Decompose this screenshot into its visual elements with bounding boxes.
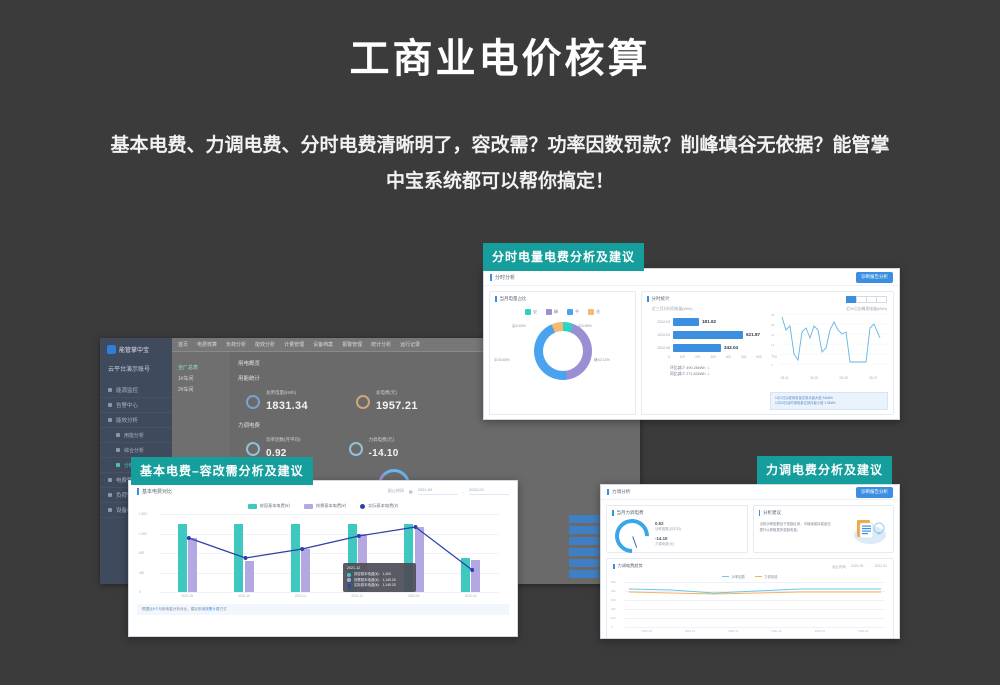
x-tick: 2022-01 — [408, 594, 420, 598]
bar-chart: 2022-03 181.62 2022-04 621.87 2022-05 — [642, 312, 784, 354]
gauge-block: 0.92 功率因数(月平均) -14.10 力调电费(元) — [607, 516, 747, 553]
card-gauge: 当月力调电费 0.92 功率因数(月平均) -14.10 力调电费(元) — [606, 505, 748, 553]
axis-tick: 05-20 — [810, 376, 818, 380]
legend-item-feng[interactable]: 峰 — [546, 309, 558, 315]
bar-label: 2022-05 — [650, 346, 670, 350]
svg-text:0: 0 — [771, 363, 773, 367]
kpi-total-fee: 总电费(元) 1957.21 — [356, 390, 418, 414]
down-arrow-icon: ↓ — [707, 371, 710, 377]
sidebar-label: 综合分析 — [124, 447, 144, 454]
picker-separator: - — [868, 564, 869, 569]
card-title: 分析建议 — [763, 510, 781, 516]
x-tick: 2022-02 — [858, 629, 868, 633]
y-tick: 1,600 — [139, 512, 147, 516]
insight-line-2: 1月20日谷时用电量达到月最小值 1.5kWh — [775, 401, 883, 406]
trend-date-picker[interactable]: 起止时间 2021-09 - 2022-02 — [832, 564, 887, 569]
card-title-wrap: 当月电量占比 — [490, 292, 635, 302]
sidebar-label: 用能分析 — [124, 432, 144, 439]
legend-item-xuqiu[interactable]: 按需基本电费(¥) — [304, 503, 346, 509]
bar-chart-subtitle: 近三月分时用电量(kWh) — [642, 302, 784, 312]
line-chart-svg: 352821 1470 — [770, 308, 888, 374]
tag-shiduan-analysis: 分时电量电费分析及建议 — [483, 243, 644, 271]
line-chart: 352821 1470 — [770, 308, 888, 374]
picker-label: 起止时间 — [832, 564, 846, 569]
sidebar-label: 告警中心 — [116, 401, 138, 409]
svg-text:7: 7 — [771, 353, 773, 357]
note-text: 同比减少 271.62kWh — [670, 372, 705, 377]
donut-chart: 尖5.69% 峰42.13% 平45.65% 谷6.53% — [490, 318, 635, 392]
tree-node-1[interactable]: 1#车间 — [178, 375, 230, 382]
topbar-item-7[interactable]: 统计分析 — [371, 341, 391, 348]
x-tick: 2021-12 — [771, 629, 781, 633]
title-accent-bar-icon — [495, 296, 497, 302]
legend-swatch-icon — [567, 309, 573, 315]
tooltip-dot-icon — [347, 578, 351, 582]
donut-hole — [543, 331, 583, 371]
axis-tick: 600 — [756, 355, 761, 359]
legend-line-icon — [755, 576, 762, 578]
picker-to[interactable]: 2022-02 — [469, 487, 509, 495]
legend-swatch-icon — [304, 504, 313, 509]
power-factor-label: 功率因数(月平均) — [655, 526, 681, 531]
y-tick: 1,200 — [139, 532, 147, 536]
axis-tick: 06-07 — [869, 376, 877, 380]
energy-icon — [246, 395, 260, 409]
y-tick: 400 — [139, 571, 144, 575]
bar-value: 181.62 — [702, 319, 716, 324]
advice-text: 当前功率因数处于奖励区间，可继续保持或适当提升以获取更多奖励电费。 — [754, 516, 838, 533]
legend-item-rongliang[interactable]: 按容基本电费(¥) — [248, 503, 290, 509]
bar-label: 2022-04 — [650, 333, 670, 337]
legend-item-litiao-fee[interactable]: 力调电费 — [755, 574, 778, 579]
legend-label: 实际基本电费(¥) — [368, 503, 398, 509]
legend-item-jian[interactable]: 尖 — [525, 309, 537, 315]
tooltip-label: 实际基本电费(¥): — [354, 583, 379, 589]
bar-fill — [673, 344, 721, 352]
legend-line-icon — [722, 576, 729, 578]
footer-pre: 根据近 — [142, 607, 153, 611]
card-title: 当月力调电费 — [617, 510, 644, 516]
bar-row-0: 2022-03 181.62 — [650, 315, 784, 328]
screenshot-litiao-panel: 力调分析 诊断报告分析 当月力调电费 0.92 功率因数(月平均) -14.1 — [600, 484, 900, 639]
y-tick: 0 — [611, 625, 613, 629]
bar-fill — [673, 331, 743, 339]
nav-dot-icon — [108, 493, 112, 497]
legend-swatch-icon — [248, 504, 257, 509]
x-tick: 2021-12 — [351, 594, 363, 598]
legend-label: 按容基本电费(¥) — [260, 503, 290, 509]
nav-dot-icon — [116, 433, 120, 437]
legend-label: 谷 — [596, 309, 600, 315]
legend-swatch-icon — [525, 309, 531, 315]
line-chart-insight-box: 1月1日尖峰用电量达到月最大值 34kWh 1月20日谷时用电量达到月最小值 1… — [770, 392, 888, 410]
gauge-needle-icon — [632, 536, 637, 548]
x-tick: 2022-02 — [465, 594, 477, 598]
legend-label: 功率因数 — [731, 574, 745, 579]
topbar-item-8[interactable]: 运行记录 — [400, 341, 420, 348]
kpi-value: 1831.34 — [266, 400, 308, 412]
legend-item-gu[interactable]: 谷 — [588, 309, 600, 315]
topbar-item-5[interactable]: 设备档案 — [313, 341, 333, 348]
account-name: 云平台演示账号 — [108, 364, 172, 373]
calendar-icon: ▦ — [409, 489, 413, 494]
page-title: 工商业电价核算 — [0, 26, 1000, 84]
svg-text:14: 14 — [771, 343, 775, 347]
shiduan-title: 分时分析 — [495, 274, 515, 281]
litiao-header: 力调分析 诊断报告分析 — [601, 485, 899, 500]
litiao-fee-label: 力调电费(元) — [655, 541, 681, 546]
title-accent-bar-icon — [607, 489, 609, 495]
tooltip-dot-icon — [347, 584, 351, 588]
fee-icon — [356, 395, 370, 409]
donut-label-ping: 平45.65% — [494, 358, 510, 363]
x-tick: 2021-10 — [685, 629, 695, 633]
x-tick: 2021-11 — [728, 629, 738, 633]
axis-tick: 100 — [680, 355, 685, 359]
legend-item-ping[interactable]: 平 — [567, 309, 579, 315]
nav-dot-icon — [108, 403, 112, 407]
nav-dot-icon — [108, 418, 112, 422]
donut-label-gu: 谷6.53% — [512, 324, 526, 329]
trend-plot: 500 400 300 200 100 0 — [625, 582, 885, 628]
sidebar-item-2[interactable]: 能效分析 — [100, 413, 172, 428]
page-subtitle: 基本电费、力调电费、分时电费清晰明了，容改需？功率因数罚款？削峰填谷无依据？能管… — [110, 128, 890, 200]
topbar-item-1[interactable]: 电费核算 — [197, 341, 217, 348]
card-title: 分时统计 — [652, 296, 670, 302]
jiben-legend: 按容基本电费(¥) 按需基本电费(¥) 实际基本电费(¥) — [129, 503, 517, 509]
sidebar-item-1[interactable]: 告警中心 — [100, 398, 172, 413]
title-accent-bar-icon — [612, 510, 614, 516]
axis-tick: 400 — [726, 355, 731, 359]
legend-dot-icon — [360, 504, 365, 509]
title-accent-bar-icon — [647, 296, 649, 302]
bar-value: 621.87 — [746, 332, 760, 337]
kpi-litiao-fee: 力调电费(元) -14.10 — [349, 437, 399, 461]
card-title: 当月电量占比 — [500, 296, 527, 302]
donut-ring — [534, 322, 592, 380]
svg-text:35: 35 — [771, 313, 775, 317]
y-tick: 800 — [139, 551, 144, 555]
diagnose-report-button[interactable]: 诊断报告分析 — [856, 272, 893, 283]
trend-title-wrap: 力调电费趋势 — [613, 563, 643, 569]
sidebar-label: 能效分析 — [116, 416, 138, 424]
x-tick: 2021-11 — [295, 594, 306, 598]
picker-label: 起止时间 — [388, 488, 404, 494]
kpi-total-energy: 总用电量(kWh) 1831.34 — [246, 390, 308, 414]
footer-post: 方式 — [219, 607, 226, 611]
litiao-trend-chart: 力调电费趋势 起止时间 2021-09 - 2022-02 功率因数 力调电费 … — [606, 558, 894, 639]
litiao-cards-row: 当月力调电费 0.92 功率因数(月平均) -14.10 力调电费(元) — [601, 500, 899, 558]
axis-tick: 300 — [710, 355, 715, 359]
y-tick: 300 — [611, 598, 616, 602]
footer-link-mode[interactable]: 按需计费 — [205, 607, 219, 611]
y-tick: 200 — [611, 607, 616, 611]
bar-row-1: 2022-04 621.87 — [650, 328, 784, 341]
date-range-picker[interactable]: 起止时间 ▦ 2021-09 - 2022-02 — [388, 487, 509, 495]
tooltip-dot-icon — [347, 573, 351, 577]
trend-header: 力调电费趋势 起止时间 2021-09 - 2022-02 — [607, 559, 893, 569]
money-icon — [349, 442, 363, 456]
shiduan-header: 分时分析 诊断报告分析 — [484, 269, 899, 286]
donut-legend: 尖 峰 平 谷 — [490, 309, 635, 315]
topbar-item-0[interactable]: 首页 — [178, 341, 188, 348]
bar-value: 343.04 — [724, 345, 738, 350]
title-accent-bar-icon — [137, 488, 139, 495]
jiben-plot: 1,600 1,200 800 400 0 — [159, 514, 499, 592]
action-button[interactable] — [569, 559, 599, 567]
document-bulb-illustration-icon — [853, 515, 887, 545]
topbar-item-6[interactable]: 报警管理 — [342, 341, 362, 348]
gauge-readouts: 0.92 功率因数(月平均) -14.10 力调电费(元) — [655, 521, 681, 551]
axis-tick: 200 — [695, 355, 700, 359]
legend-label: 力调电费 — [764, 574, 778, 579]
action-button[interactable] — [569, 570, 599, 578]
topbar-item-4[interactable]: 计量管理 — [284, 341, 304, 348]
y-tick: 100 — [611, 616, 616, 620]
kpi-value: 1957.21 — [376, 400, 418, 412]
card-title-wrap: 当月力调电费 — [607, 506, 747, 516]
tag-jiben-analysis: 基本电费–容改需分析及建议 — [131, 457, 313, 485]
sidebar-item-3[interactable]: 用能分析 — [100, 428, 172, 443]
promo-page: 工商业电价核算 基本电费、力调电费、分时电费清晰明了，容改需？功率因数罚款？削峰… — [0, 0, 1000, 685]
topbar-item-2[interactable]: 负荷分析 — [226, 341, 246, 348]
sidebar-item-0[interactable]: 能源监控 — [100, 383, 172, 398]
x-tick: 2021-10 — [238, 594, 250, 598]
kpi-value: -14.10 — [369, 448, 399, 459]
note-yoy: 同比减少 271.62kWh↓ — [670, 371, 784, 377]
app-logo-text: 能管掌中宝 — [119, 345, 149, 354]
axis-tick: 05-28 — [840, 376, 848, 380]
shiduan-title-wrap: 分时分析 — [490, 274, 515, 281]
shiduan-body: 当月电量占比 尖 峰 平 谷 尖5.69% 峰42.13% 平45.65% 谷6… — [484, 286, 899, 420]
footer-link-months[interactable]: 6个月 — [153, 607, 162, 611]
y-tick: 400 — [611, 589, 616, 593]
trend-lines-svg — [625, 582, 885, 628]
screenshot-shiduan-panel: 分时分析 诊断报告分析 当月电量占比 尖 峰 平 谷 — [483, 268, 900, 420]
axis-tick: 500 — [741, 355, 746, 359]
litiao-title-wrap: 力调分析 — [607, 489, 630, 495]
jiben-title-wrap: 基本电费对比 — [137, 488, 172, 495]
card-shiduan-stats: 分时统计 近三月分时用电量(kWh) 2022-03 181.62 — [641, 291, 894, 415]
title-accent-bar-icon — [759, 510, 761, 516]
app-logo: 能管掌中宝 — [100, 338, 172, 354]
axis-tick: 0 — [668, 355, 670, 359]
footer-mid: 用电量分析对比，建议采用 — [162, 607, 205, 611]
jiben-title: 基本电费对比 — [142, 488, 172, 495]
bar-notes: 环比减少 490.25kWh↓ 同比减少 271.62kWh↓ — [642, 359, 784, 377]
picker-from[interactable]: 2021-09 — [418, 487, 458, 495]
y-tick: 0 — [139, 590, 141, 594]
line-x-axis: 05-11 05-20 05-28 06-07 — [770, 376, 888, 380]
x-tick: 2021-09 — [642, 629, 652, 633]
title-accent-bar-icon — [613, 564, 615, 569]
trend-legend: 功率因数 力调电费 — [607, 574, 893, 579]
kpi-label: 总用电量(kWh) — [266, 390, 308, 396]
tree-node-0[interactable]: 全厂总表 — [178, 364, 230, 371]
legend-label: 平 — [575, 309, 579, 315]
legend-item-power-factor[interactable]: 功率因数 — [722, 574, 745, 579]
chart-tooltip: 2021-12 按容基本电费(¥):1,400 按需基本电费(¥):1,145.… — [343, 563, 416, 592]
legend-swatch-icon — [588, 309, 594, 315]
litiao-title: 力调分析 — [612, 489, 630, 495]
legend-swatch-icon — [546, 309, 552, 315]
sidebar-label: 能源监控 — [116, 386, 138, 394]
nav-dot-icon — [108, 478, 112, 482]
trend-x-axis: 2021-09 2021-10 2021-11 2021-12 2022-01 … — [625, 629, 885, 633]
tooltip-value: 1,145.25 — [382, 583, 395, 589]
legend-label: 尖 — [533, 309, 537, 315]
action-button[interactable] — [569, 515, 599, 523]
trend-title: 力调电费趋势 — [618, 563, 643, 569]
picker-to[interactable]: 2022-02 — [875, 564, 887, 569]
screenshot-jiben-panel: 基本电费对比 起止时间 ▦ 2021-09 - 2022-02 按容基本电费(¥… — [128, 480, 518, 637]
jiben-footer-note: 根据近6个月用电量分析对比，建议采用按需计费方式 — [137, 604, 509, 615]
title-accent-bar-icon — [490, 274, 492, 281]
action-button[interactable] — [569, 548, 599, 556]
nav-dot-icon — [116, 448, 120, 452]
diagnose-report-button[interactable]: 诊断报告分析 — [856, 487, 893, 498]
svg-text:21: 21 — [771, 333, 775, 337]
svg-text:28: 28 — [771, 323, 775, 327]
power-factor-gauge — [608, 512, 656, 560]
jiben-line-overlay — [159, 514, 499, 592]
tab-year[interactable] — [876, 296, 887, 303]
axis-tick: 05-11 — [781, 376, 789, 380]
legend-label: 峰 — [554, 309, 558, 315]
picker-from[interactable]: 2021-09 — [851, 564, 863, 569]
legend-label: 按需基本电费(¥) — [316, 503, 346, 509]
logo-mark-icon — [107, 345, 116, 354]
tree-node-2[interactable]: 2#车间 — [178, 386, 230, 393]
bar-fill — [673, 318, 699, 326]
card-advice: 分析建议 当前功率因数处于奖励区间，可继续保持或适当提升以获取更多奖励电费。 — [753, 505, 895, 553]
tooltip-title: 2021-12 — [347, 566, 412, 570]
topbar-item-3[interactable]: 能效分析 — [255, 341, 275, 348]
tag-litiao-analysis: 力调电费分析及建议 — [757, 456, 892, 484]
gauge-icon — [246, 442, 260, 456]
bar-label: 2022-03 — [650, 320, 670, 324]
sidebar-item-4[interactable]: 综合分析 — [100, 443, 172, 458]
nav-dot-icon — [108, 508, 112, 512]
tooltip-row-2: 实际基本电费(¥):1,145.25 — [347, 583, 412, 589]
nav-dot-icon — [116, 463, 120, 467]
donut-label-feng: 峰42.13% — [594, 358, 610, 363]
x-tick: 2021-09 — [182, 594, 194, 598]
action-button[interactable] — [569, 526, 599, 534]
bar-row-2: 2022-05 343.04 — [650, 341, 784, 354]
y-tick: 500 — [611, 580, 616, 584]
card-monthly-share: 当月电量占比 尖 峰 平 谷 尖5.69% 峰42.13% 平45.65% 谷6… — [489, 291, 636, 415]
donut-label-jian: 尖5.69% — [578, 324, 592, 329]
x-tick: 2022-01 — [815, 629, 825, 633]
action-button[interactable] — [569, 537, 599, 545]
kpi-label: 功率因数(月平均) — [266, 437, 301, 443]
period-tabs — [847, 296, 887, 303]
note-text: 环比减少 490.25kWh — [670, 366, 705, 371]
kpi-label: 总电费(元) — [376, 390, 418, 396]
legend-item-shiji[interactable]: 实际基本电费(¥) — [360, 503, 398, 509]
picker-separator: - — [463, 489, 464, 494]
nav-dot-icon — [108, 388, 112, 392]
kpi-label: 力调电费(元) — [369, 437, 399, 443]
jiben-x-axis: 2021-09 2021-10 2021-11 2021-12 2022-01 … — [159, 594, 499, 598]
